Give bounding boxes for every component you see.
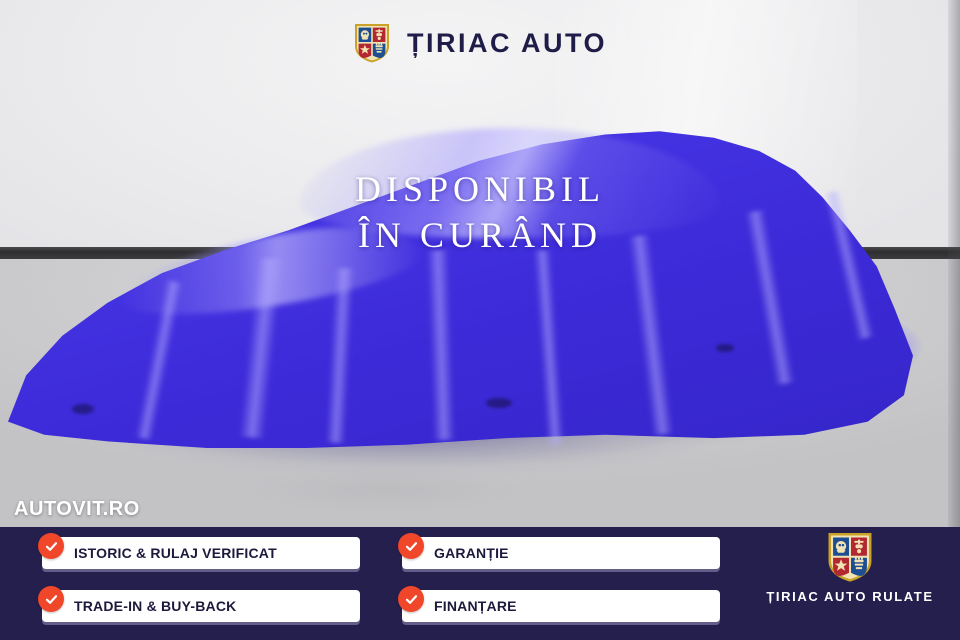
header-brand-text: ȚIRIAC AUTO (407, 30, 607, 57)
features-column-left: ISTORIC & RULAJ VERIFICAT TRADE-IN & BUY… (38, 527, 378, 622)
availability-headline: DISPONIBIL ÎN CURÂND (0, 166, 960, 258)
headline-line-1: DISPONIBIL (0, 166, 960, 212)
autovit-watermark: AUTOVIT.RO (14, 498, 140, 521)
feature-pill: ISTORIC & RULAJ VERIFICAT (42, 537, 360, 569)
check-icon (38, 533, 64, 559)
check-icon (38, 586, 64, 612)
check-icon (398, 586, 424, 612)
feature-badge[interactable]: GARANȚIE (398, 537, 738, 569)
feature-pill: TRADE-IN & BUY-BACK (42, 590, 360, 622)
vehicle-photo (0, 0, 960, 527)
check-icon (398, 533, 424, 559)
listing-photo-card: ȚIRIAC AUTO DISPONIBIL ÎN CURÂND AUTOVIT… (0, 0, 960, 640)
header-brand-logo: ȚIRIAC AUTO (0, 22, 960, 64)
footer-brand-text: ȚIRIAC AUTO RULATE (766, 590, 933, 603)
wheel-shadow (486, 398, 512, 408)
wheel-shadow (716, 344, 734, 352)
headline-line-2: ÎN CURÂND (0, 212, 960, 258)
features-column-right: GARANȚIE FINANȚARE (398, 527, 738, 622)
wheel-shadow (72, 404, 94, 414)
feature-label: FINANȚARE (434, 598, 517, 614)
feature-badge[interactable]: FINANȚARE (398, 590, 738, 622)
tiriac-shield-icon (353, 22, 391, 64)
feature-badge[interactable]: TRADE-IN & BUY-BACK (38, 590, 378, 622)
footer-brand-logo: ȚIRIAC AUTO RULATE (750, 530, 950, 603)
feature-label: TRADE-IN & BUY-BACK (74, 598, 236, 614)
feature-pill: GARANȚIE (402, 537, 720, 569)
feature-pill: FINANȚARE (402, 590, 720, 622)
feature-label: GARANȚIE (434, 545, 509, 561)
tiriac-shield-icon (826, 530, 874, 584)
feature-badge[interactable]: ISTORIC & RULAJ VERIFICAT (38, 537, 378, 569)
photo-right-edge (948, 0, 960, 527)
feature-label: ISTORIC & RULAJ VERIFICAT (74, 545, 277, 561)
